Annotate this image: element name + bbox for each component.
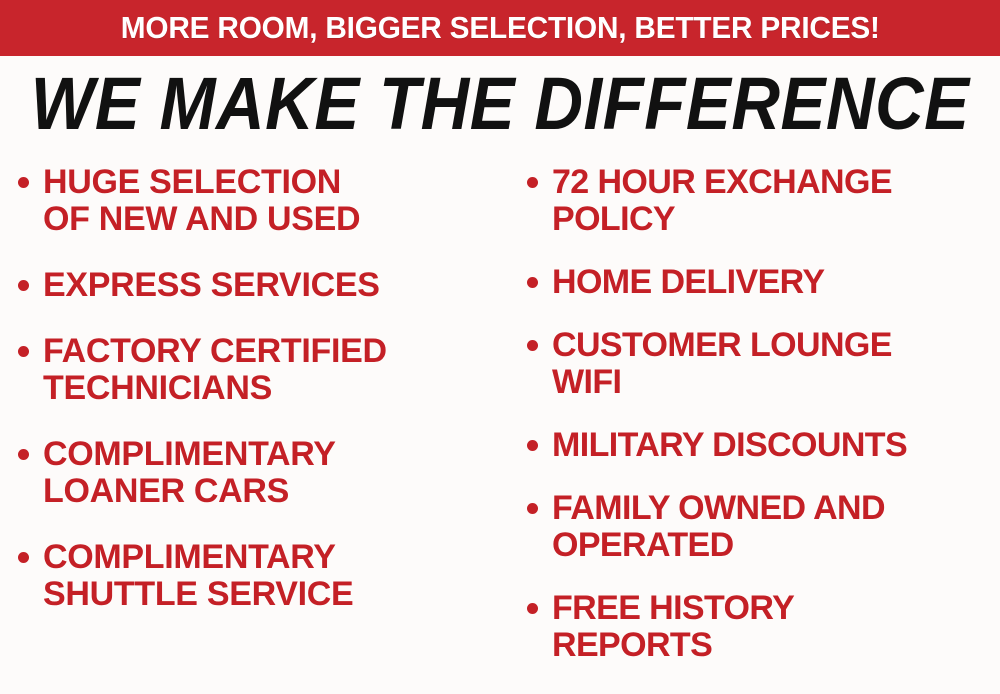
bullet-dot-icon <box>18 449 29 460</box>
bullet-dot-icon <box>527 440 538 451</box>
feature-label: MILITARY DISCOUNTS <box>552 427 1000 464</box>
bullet-dot-icon <box>527 277 538 288</box>
features-columns: HUGE SELECTION OF NEW AND USED EXPRESS S… <box>0 158 1000 694</box>
feature-label: COMPLIMENTARY SHUTTLE SERVICE <box>43 539 505 613</box>
bullet-dot-icon <box>18 280 29 291</box>
feature-label: HUGE SELECTION OF NEW AND USED <box>43 164 505 238</box>
list-item: CUSTOMER LOUNGE WIFI <box>527 327 1000 401</box>
page-title: WE MAKE THE DIFFERENCE <box>31 66 970 140</box>
bullet-dot-icon <box>527 340 538 351</box>
left-feature-column: HUGE SELECTION OF NEW AND USED EXPRESS S… <box>0 158 505 694</box>
feature-label: COMPLIMENTARY LOANER CARS <box>43 436 505 510</box>
top-promo-banner: MORE ROOM, BIGGER SELECTION, BETTER PRIC… <box>0 0 1000 56</box>
list-item: FACTORY CERTIFIED TECHNICIANS <box>18 333 505 407</box>
feature-label: 72 HOUR EXCHANGE POLICY <box>552 164 1000 238</box>
list-item: MILITARY DISCOUNTS <box>527 427 1000 464</box>
list-item: COMPLIMENTARY LOANER CARS <box>18 436 505 510</box>
feature-label: FAMILY OWNED AND OPERATED <box>552 490 1000 564</box>
list-item: FAMILY OWNED AND OPERATED <box>527 490 1000 564</box>
right-feature-column: 72 HOUR EXCHANGE POLICY HOME DELIVERY CU… <box>505 158 1000 694</box>
list-item: COMPLIMENTARY SHUTTLE SERVICE <box>18 539 505 613</box>
bullet-dot-icon <box>18 177 29 188</box>
feature-label: FREE HISTORY REPORTS <box>552 590 1000 664</box>
feature-label: CUSTOMER LOUNGE WIFI <box>552 327 1000 401</box>
list-item: FREE HISTORY REPORTS <box>527 590 1000 664</box>
list-item: HOME DELIVERY <box>527 264 1000 301</box>
advertisement-banner: MORE ROOM, BIGGER SELECTION, BETTER PRIC… <box>0 0 1000 694</box>
feature-label: HOME DELIVERY <box>552 264 1000 301</box>
promo-banner-text: MORE ROOM, BIGGER SELECTION, BETTER PRIC… <box>121 10 880 46</box>
bullet-dot-icon <box>18 552 29 563</box>
headline-container: WE MAKE THE DIFFERENCE <box>0 66 1000 140</box>
list-item: EXPRESS SERVICES <box>18 267 505 304</box>
list-item: 72 HOUR EXCHANGE POLICY <box>527 164 1000 238</box>
feature-label: EXPRESS SERVICES <box>43 267 505 304</box>
bullet-dot-icon <box>527 503 538 514</box>
bullet-dot-icon <box>18 346 29 357</box>
list-item: HUGE SELECTION OF NEW AND USED <box>18 164 505 238</box>
bullet-dot-icon <box>527 603 538 614</box>
feature-label: FACTORY CERTIFIED TECHNICIANS <box>43 333 505 407</box>
bullet-dot-icon <box>527 177 538 188</box>
